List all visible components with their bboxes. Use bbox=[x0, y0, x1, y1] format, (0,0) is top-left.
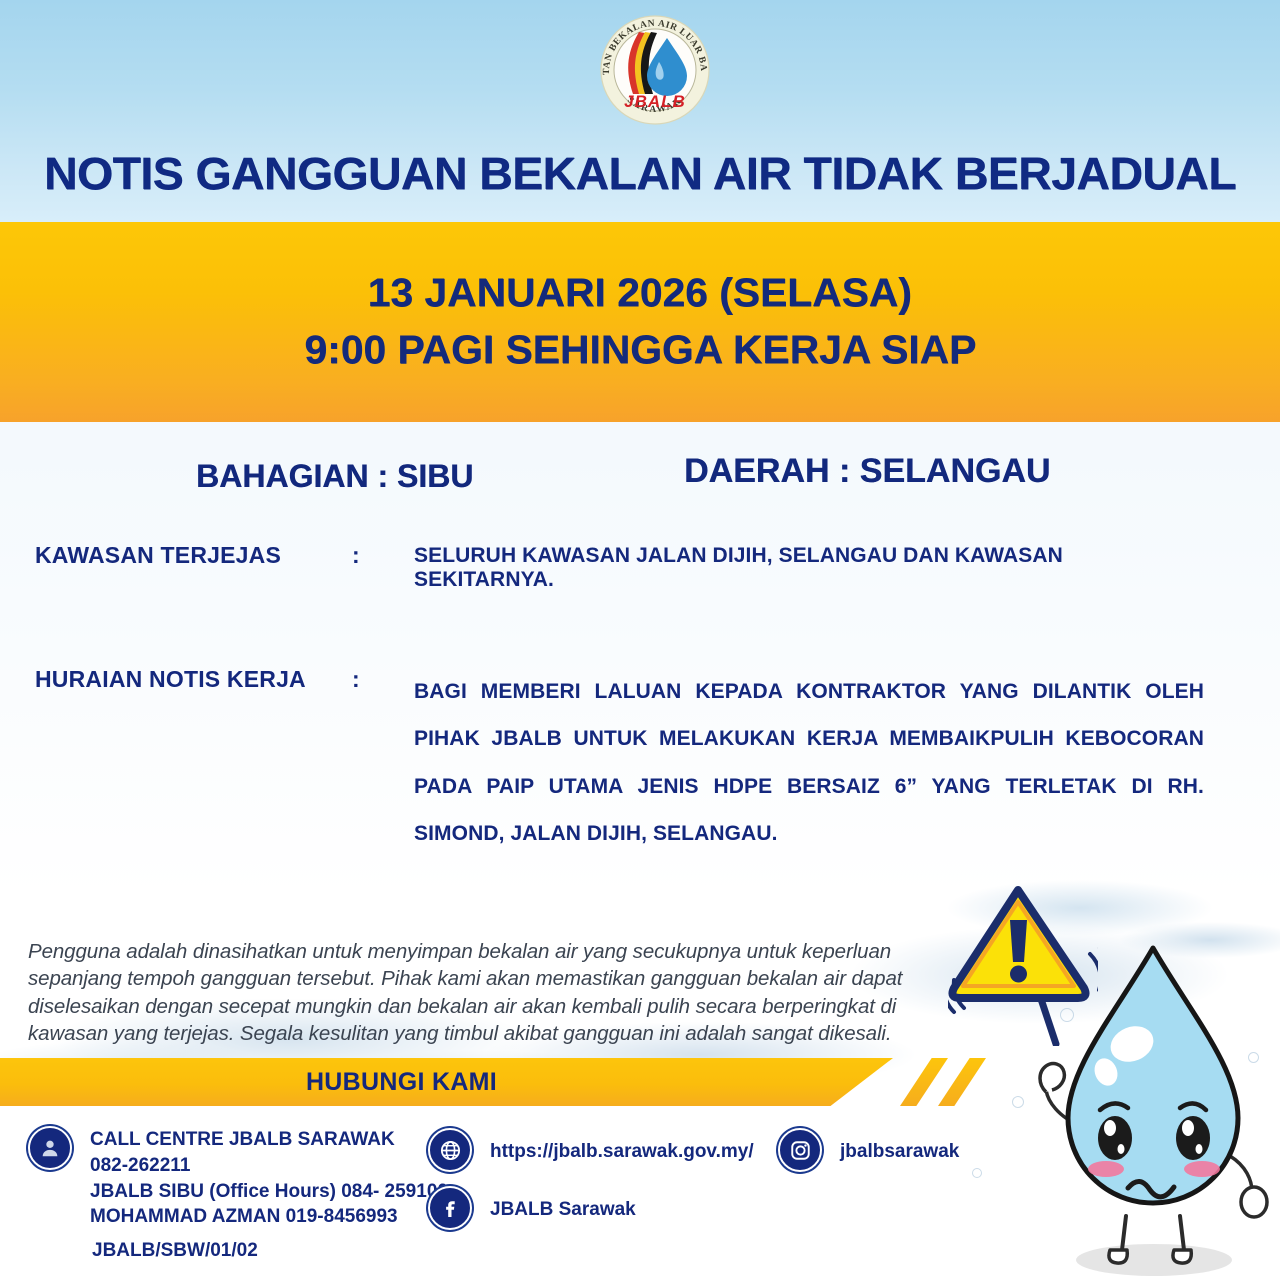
affected-area-value: SELURUH KAWASAN JALAN DIJIH, SELANGAU DA… bbox=[414, 544, 1204, 592]
facebook-icon[interactable] bbox=[428, 1186, 472, 1230]
facebook-label[interactable]: JBALB Sarawak bbox=[490, 1186, 636, 1223]
contact-banner-title: HUBUNGI KAMI bbox=[306, 1068, 497, 1097]
affected-area-label: KAWASAN TERJEJAS bbox=[35, 542, 281, 569]
instagram-label[interactable]: jbalbsarawak bbox=[840, 1128, 959, 1165]
bahagian-label: BAHAGIAN : SIBU bbox=[196, 458, 473, 495]
jbalb-logo: JABATAN BEKALAN AIR LUAR BANDAR SARAWAK … bbox=[593, 8, 717, 130]
colon-separator: : bbox=[352, 542, 360, 569]
website-label[interactable]: https://jbalb.sarawak.gov.my/ bbox=[490, 1128, 754, 1165]
daerah-label: DAERAH : SELANGAU bbox=[684, 452, 1050, 491]
division-row: BAHAGIAN : SIBU DAERAH : SELANGAU bbox=[0, 458, 1280, 504]
call-centre-text: CALL CENTRE JBALB SARAWAK 082-262211 JBA… bbox=[90, 1126, 448, 1230]
work-description-line-3: PADA PAIP UTAMA JENIS HDPE BERSAIZ 6” YA… bbox=[414, 763, 1204, 810]
work-description-label: HURAIAN NOTIS KERJA bbox=[35, 666, 306, 693]
globe-icon[interactable] bbox=[428, 1128, 472, 1172]
banner-slash-decoration bbox=[900, 1058, 948, 1106]
contact-instagram[interactable]: jbalbsarawak bbox=[778, 1128, 959, 1172]
call-centre-line-1: CALL CENTRE JBALB SARAWAK bbox=[90, 1127, 448, 1153]
instagram-icon[interactable] bbox=[778, 1128, 822, 1172]
notice-poster: JABATAN BEKALAN AIR LUAR BANDAR SARAWAK … bbox=[0, 0, 1280, 1280]
date-line-1: 13 JANUARI 2026 (SELASA) bbox=[368, 265, 912, 322]
contact-facebook[interactable]: JBALB Sarawak bbox=[428, 1186, 636, 1230]
date-line-2: 9:00 PAGI SEHINGGA KERJA SIAP bbox=[304, 322, 976, 379]
water-droplet-mascot bbox=[1022, 930, 1280, 1280]
colon-separator: : bbox=[352, 666, 360, 693]
contact-call-centre: CALL CENTRE JBALB SARAWAK 082-262211 JBA… bbox=[28, 1126, 448, 1230]
document-reference: JBALB/SBW/01/02 bbox=[92, 1240, 258, 1262]
page-title: NOTIS GANGGUAN BEKALAN AIR TIDAK BERJADU… bbox=[0, 148, 1280, 200]
svg-text:JBALB: JBALB bbox=[624, 92, 686, 111]
contact-banner: HUBUNGI KAMI bbox=[0, 1058, 893, 1106]
work-description-line-1: BAGI MEMBERI LALUAN KEPADA KONTRAKTOR YA… bbox=[414, 668, 1204, 715]
person-icon bbox=[28, 1126, 72, 1170]
advisory-paragraph: Pengguna adalah dinasihatkan untuk menyi… bbox=[28, 938, 913, 1047]
contact-banner-wrapper: HUBUNGI KAMI bbox=[0, 1058, 980, 1106]
banner-slash-decoration bbox=[938, 1058, 986, 1106]
contact-website[interactable]: https://jbalb.sarawak.gov.my/ bbox=[428, 1128, 754, 1172]
call-centre-line-4: MOHAMMAD AZMAN 019-8456993 bbox=[90, 1204, 448, 1230]
work-description-line-2: PIHAK JBALB UNTUK MELAKUKAN KERJA MEMBAI… bbox=[414, 715, 1204, 762]
call-centre-line-3: JBALB SIBU (Office Hours) 084- 259100 bbox=[90, 1179, 448, 1205]
call-centre-line-2: 082-262211 bbox=[90, 1153, 448, 1179]
work-description-line-4: SIMOND, JALAN DIJIH, SELANGAU. bbox=[414, 810, 1204, 857]
date-banner: 13 JANUARI 2026 (SELASA) 9:00 PAGI SEHIN… bbox=[0, 222, 1280, 422]
work-description-value: BAGI MEMBERI LALUAN KEPADA KONTRAKTOR YA… bbox=[414, 668, 1204, 857]
